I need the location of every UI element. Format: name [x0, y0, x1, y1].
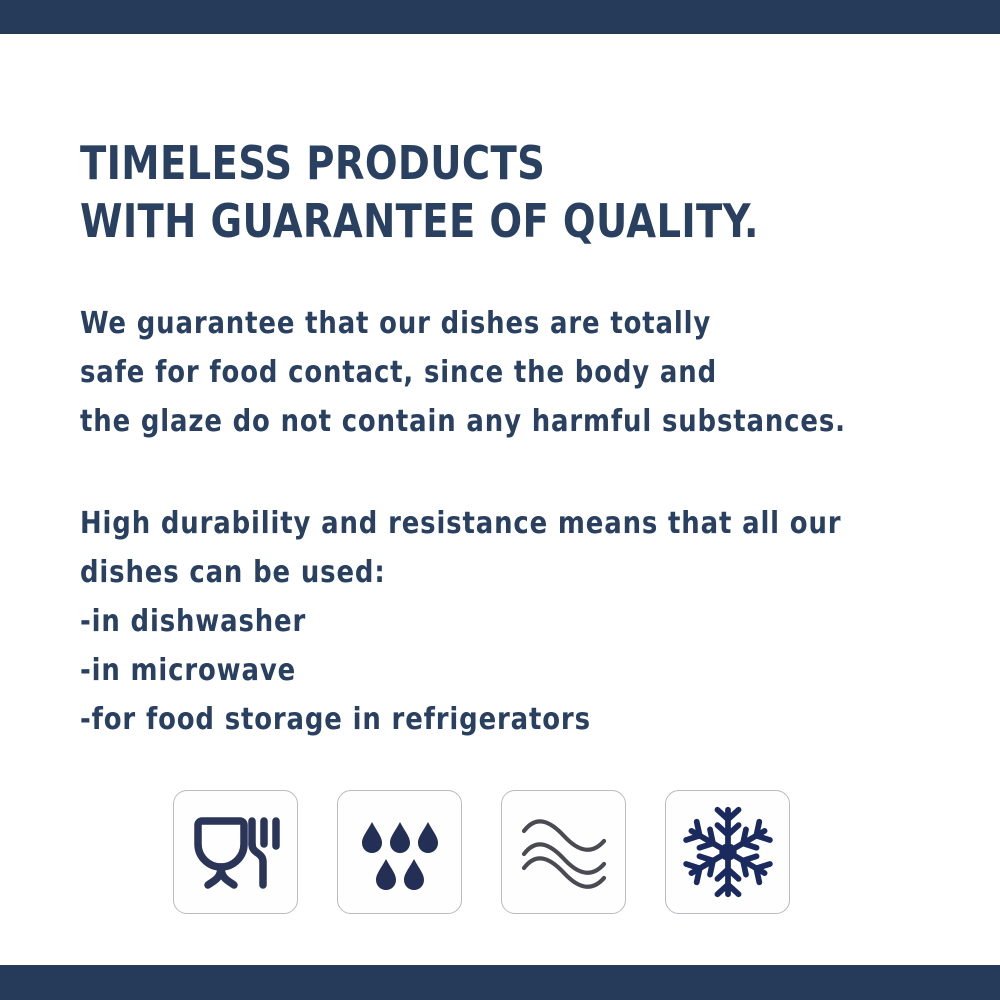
guarantee-line-3: the glaze do not contain any harmful sub… [80, 397, 846, 446]
headline-line-1: TIMELESS PRODUCTS [80, 134, 759, 192]
food-safe-icon-box [173, 790, 298, 914]
bottom-navy-bar [0, 965, 1000, 1000]
freezer-icon-box [665, 790, 790, 914]
dishwasher-icon-box [337, 790, 462, 914]
microwave-icon [517, 806, 611, 898]
food-safe-icon [190, 806, 282, 898]
usage-item-dishwasher: -in dishwasher [80, 597, 841, 646]
durability-paragraph: High durability and resistance means tha… [80, 499, 841, 744]
usage-item-microwave: -in microwave [80, 646, 841, 695]
guarantee-paragraph: We guarantee that our dishes are totally… [80, 299, 846, 446]
headline-line-2: WITH GUARANTEE OF QUALITY. [80, 192, 759, 250]
guarantee-line-2: safe for food contact, since the body an… [80, 348, 846, 397]
poster-root: TIMELESS PRODUCTS WITH GUARANTEE OF QUAL… [0, 0, 1000, 1000]
certification-icon-row [173, 790, 790, 914]
durability-line-1: High durability and resistance means tha… [80, 499, 841, 548]
snowflake-icon [680, 804, 776, 900]
microwave-icon-box [501, 790, 626, 914]
guarantee-line-1: We guarantee that our dishes are totally [80, 299, 846, 348]
usage-item-refrigerator: -for food storage in refrigerators [80, 695, 841, 744]
top-navy-bar [0, 0, 1000, 34]
durability-line-2: dishes can be used: [80, 548, 841, 597]
page-title: TIMELESS PRODUCTS WITH GUARANTEE OF QUAL… [80, 134, 759, 250]
dishwasher-icon [354, 806, 446, 898]
